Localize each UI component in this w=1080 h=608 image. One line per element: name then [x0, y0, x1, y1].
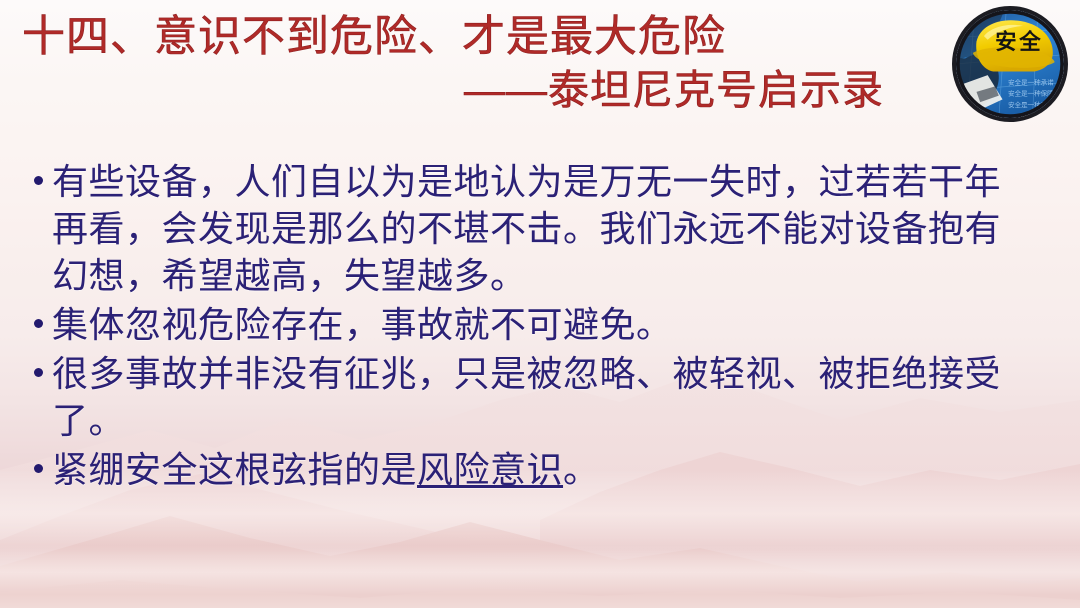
bullet-list: 有些设备，人们自以为是地认为是万无一失时，过若若干年再看，会发现是那么的不堪不击… — [24, 158, 1024, 495]
list-item: 很多事故并非没有征兆，只是被忽略、被轻视、被拒绝接受了。 — [24, 350, 1024, 444]
bullet-marker — [24, 301, 52, 328]
risk-awareness-emphasis: 风险意识 — [417, 449, 563, 490]
bullet-4-part-c: 。 — [563, 449, 600, 490]
bullet-marker — [24, 446, 52, 473]
bullet-text-1: 有些设备，人们自以为是地认为是万无一失时，过若若干年再看，会发现是那么的不堪不击… — [52, 158, 1024, 299]
safety-badge: 安全 安全是一种承诺 安全是一种保障 安全是一种责任 — [952, 6, 1068, 122]
bullet-marker — [24, 158, 52, 185]
bullet-text-2: 集体忽视危险存在，事故就不可避免。 — [52, 301, 1024, 348]
svg-text:安全是一种承诺: 安全是一种承诺 — [1008, 77, 1054, 86]
safety-helmet-icon: 安全 安全是一种承诺 安全是一种保障 安全是一种责任 — [956, 10, 1064, 118]
bullet-text-3: 很多事故并非没有征兆，只是被忽略、被轻视、被拒绝接受了。 — [52, 350, 1024, 444]
bullet-marker — [24, 350, 52, 377]
page-subtitle: ——泰坦尼克号启示录 — [0, 64, 900, 116]
list-item: 紧绷安全这根弦指的是风险意识。 — [24, 446, 1024, 493]
title-block: 十四、意识不到危险、才是最大危险 ——泰坦尼克号启示录 — [0, 10, 900, 116]
svg-text:安全: 安全 — [995, 29, 1043, 54]
page-title: 十四、意识不到危险、才是最大危险 — [0, 10, 900, 64]
bullet-text-4: 紧绷安全这根弦指的是风险意识。 — [52, 446, 1024, 493]
bullet-4-part-a: 紧绷安全这根弦指的是 — [52, 449, 417, 490]
svg-text:安全是一种保障: 安全是一种保障 — [1008, 89, 1054, 98]
list-item: 集体忽视危险存在，事故就不可避免。 — [24, 301, 1024, 348]
slide-canvas: 十四、意识不到危险、才是最大危险 ——泰坦尼克号启示录 — [0, 0, 1080, 608]
list-item: 有些设备，人们自以为是地认为是万无一失时，过若若干年再看，会发现是那么的不堪不击… — [24, 158, 1024, 299]
